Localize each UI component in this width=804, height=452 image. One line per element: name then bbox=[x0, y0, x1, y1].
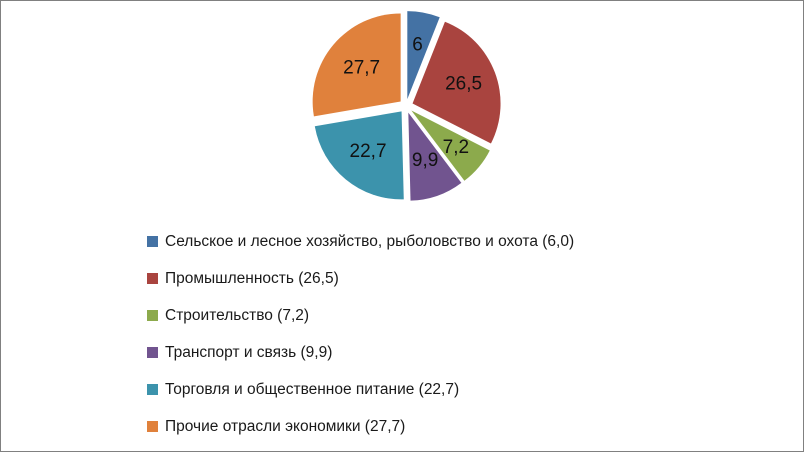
legend-item-label: Транспорт и связь (9,9) bbox=[165, 345, 332, 361]
pie-slice-label: 6 bbox=[412, 35, 423, 56]
legend-item-label: Сельское и лесное хозяйство, рыболовство… bbox=[165, 234, 574, 250]
legend-color-swatch bbox=[147, 273, 158, 284]
legend-item-label: Строительство (7,2) bbox=[165, 308, 309, 324]
legend-item-label: Прочие отрасли экономики (27,7) bbox=[165, 419, 405, 435]
chart-legend: Сельское и лесное хозяйство, рыболовство… bbox=[147, 223, 747, 445]
legend-color-swatch bbox=[147, 347, 158, 358]
pie-chart: 626,57,29,922,727,7 Сельское и лесное хо… bbox=[1, 1, 803, 451]
legend-item-label: Промышленность (26,5) bbox=[165, 271, 339, 287]
pie-slices bbox=[313, 11, 501, 200]
pie-slice-label: 7,2 bbox=[443, 137, 469, 158]
pie-slice-label: 27,7 bbox=[343, 58, 380, 79]
chart-frame: 626,57,29,922,727,7 Сельское и лесное хо… bbox=[0, 0, 804, 452]
legend-item[interactable]: Строительство (7,2) bbox=[147, 297, 747, 334]
legend-color-swatch bbox=[147, 310, 158, 321]
legend-item-label: Торговля и общественное питание (22,7) bbox=[165, 382, 459, 398]
legend-item[interactable]: Прочие отрасли экономики (27,7) bbox=[147, 408, 747, 445]
pie-chart-svg: 626,57,29,922,727,7 bbox=[296, 5, 528, 211]
legend-item[interactable]: Сельское и лесное хозяйство, рыболовство… bbox=[147, 223, 747, 260]
legend-item[interactable]: Транспорт и связь (9,9) bbox=[147, 334, 747, 371]
legend-color-swatch bbox=[147, 421, 158, 432]
legend-item[interactable]: Торговля и общественное питание (22,7) bbox=[147, 371, 747, 408]
pie-slice-label: 9,9 bbox=[412, 150, 438, 171]
legend-color-swatch bbox=[147, 384, 158, 395]
legend-item[interactable]: Промышленность (26,5) bbox=[147, 260, 747, 297]
pie-slice-label: 26,5 bbox=[445, 73, 482, 94]
pie-slice-label: 22,7 bbox=[350, 141, 387, 162]
legend-color-swatch bbox=[147, 236, 158, 247]
